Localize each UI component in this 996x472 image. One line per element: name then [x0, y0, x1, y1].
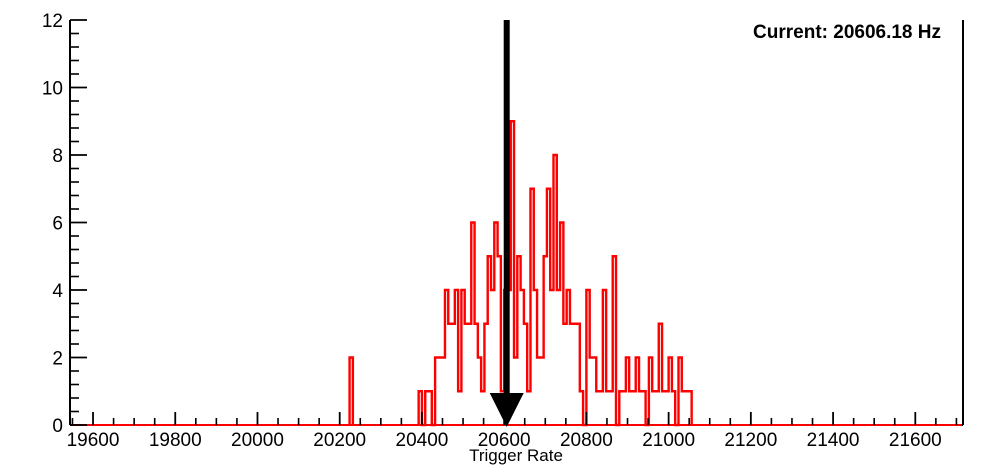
histogram-plot: 1960019800200002020020400206002080021000… [0, 0, 996, 472]
x-tick-label: 20800 [560, 430, 613, 451]
y-tick-label: 6 [52, 214, 63, 235]
x-axis-title: Trigger Rate [469, 446, 563, 465]
y-tick-label: 4 [52, 281, 63, 302]
x-tick-label: 20400 [396, 430, 449, 451]
current-rate-label: Current: 20606.18 Hz [753, 22, 941, 43]
x-tick-label: 19600 [67, 430, 120, 451]
y-tick-label: 8 [52, 146, 63, 167]
y-tick-label: 0 [52, 416, 63, 437]
x-tick-label: 20200 [313, 430, 366, 451]
x-tick-label: 21400 [807, 430, 860, 451]
y-tick-label: 12 [42, 11, 63, 32]
root-canvas: 1960019800200002020020400206002080021000… [0, 0, 996, 472]
x-tick-label: 21200 [724, 430, 777, 451]
y-tick-label: 2 [52, 349, 63, 370]
y-tick-label: 10 [42, 79, 63, 100]
x-tick-label: 21600 [889, 430, 942, 451]
x-tick-label: 19800 [149, 430, 202, 451]
x-tick-label: 20000 [231, 430, 284, 451]
x-tick-label: 21000 [642, 430, 695, 451]
